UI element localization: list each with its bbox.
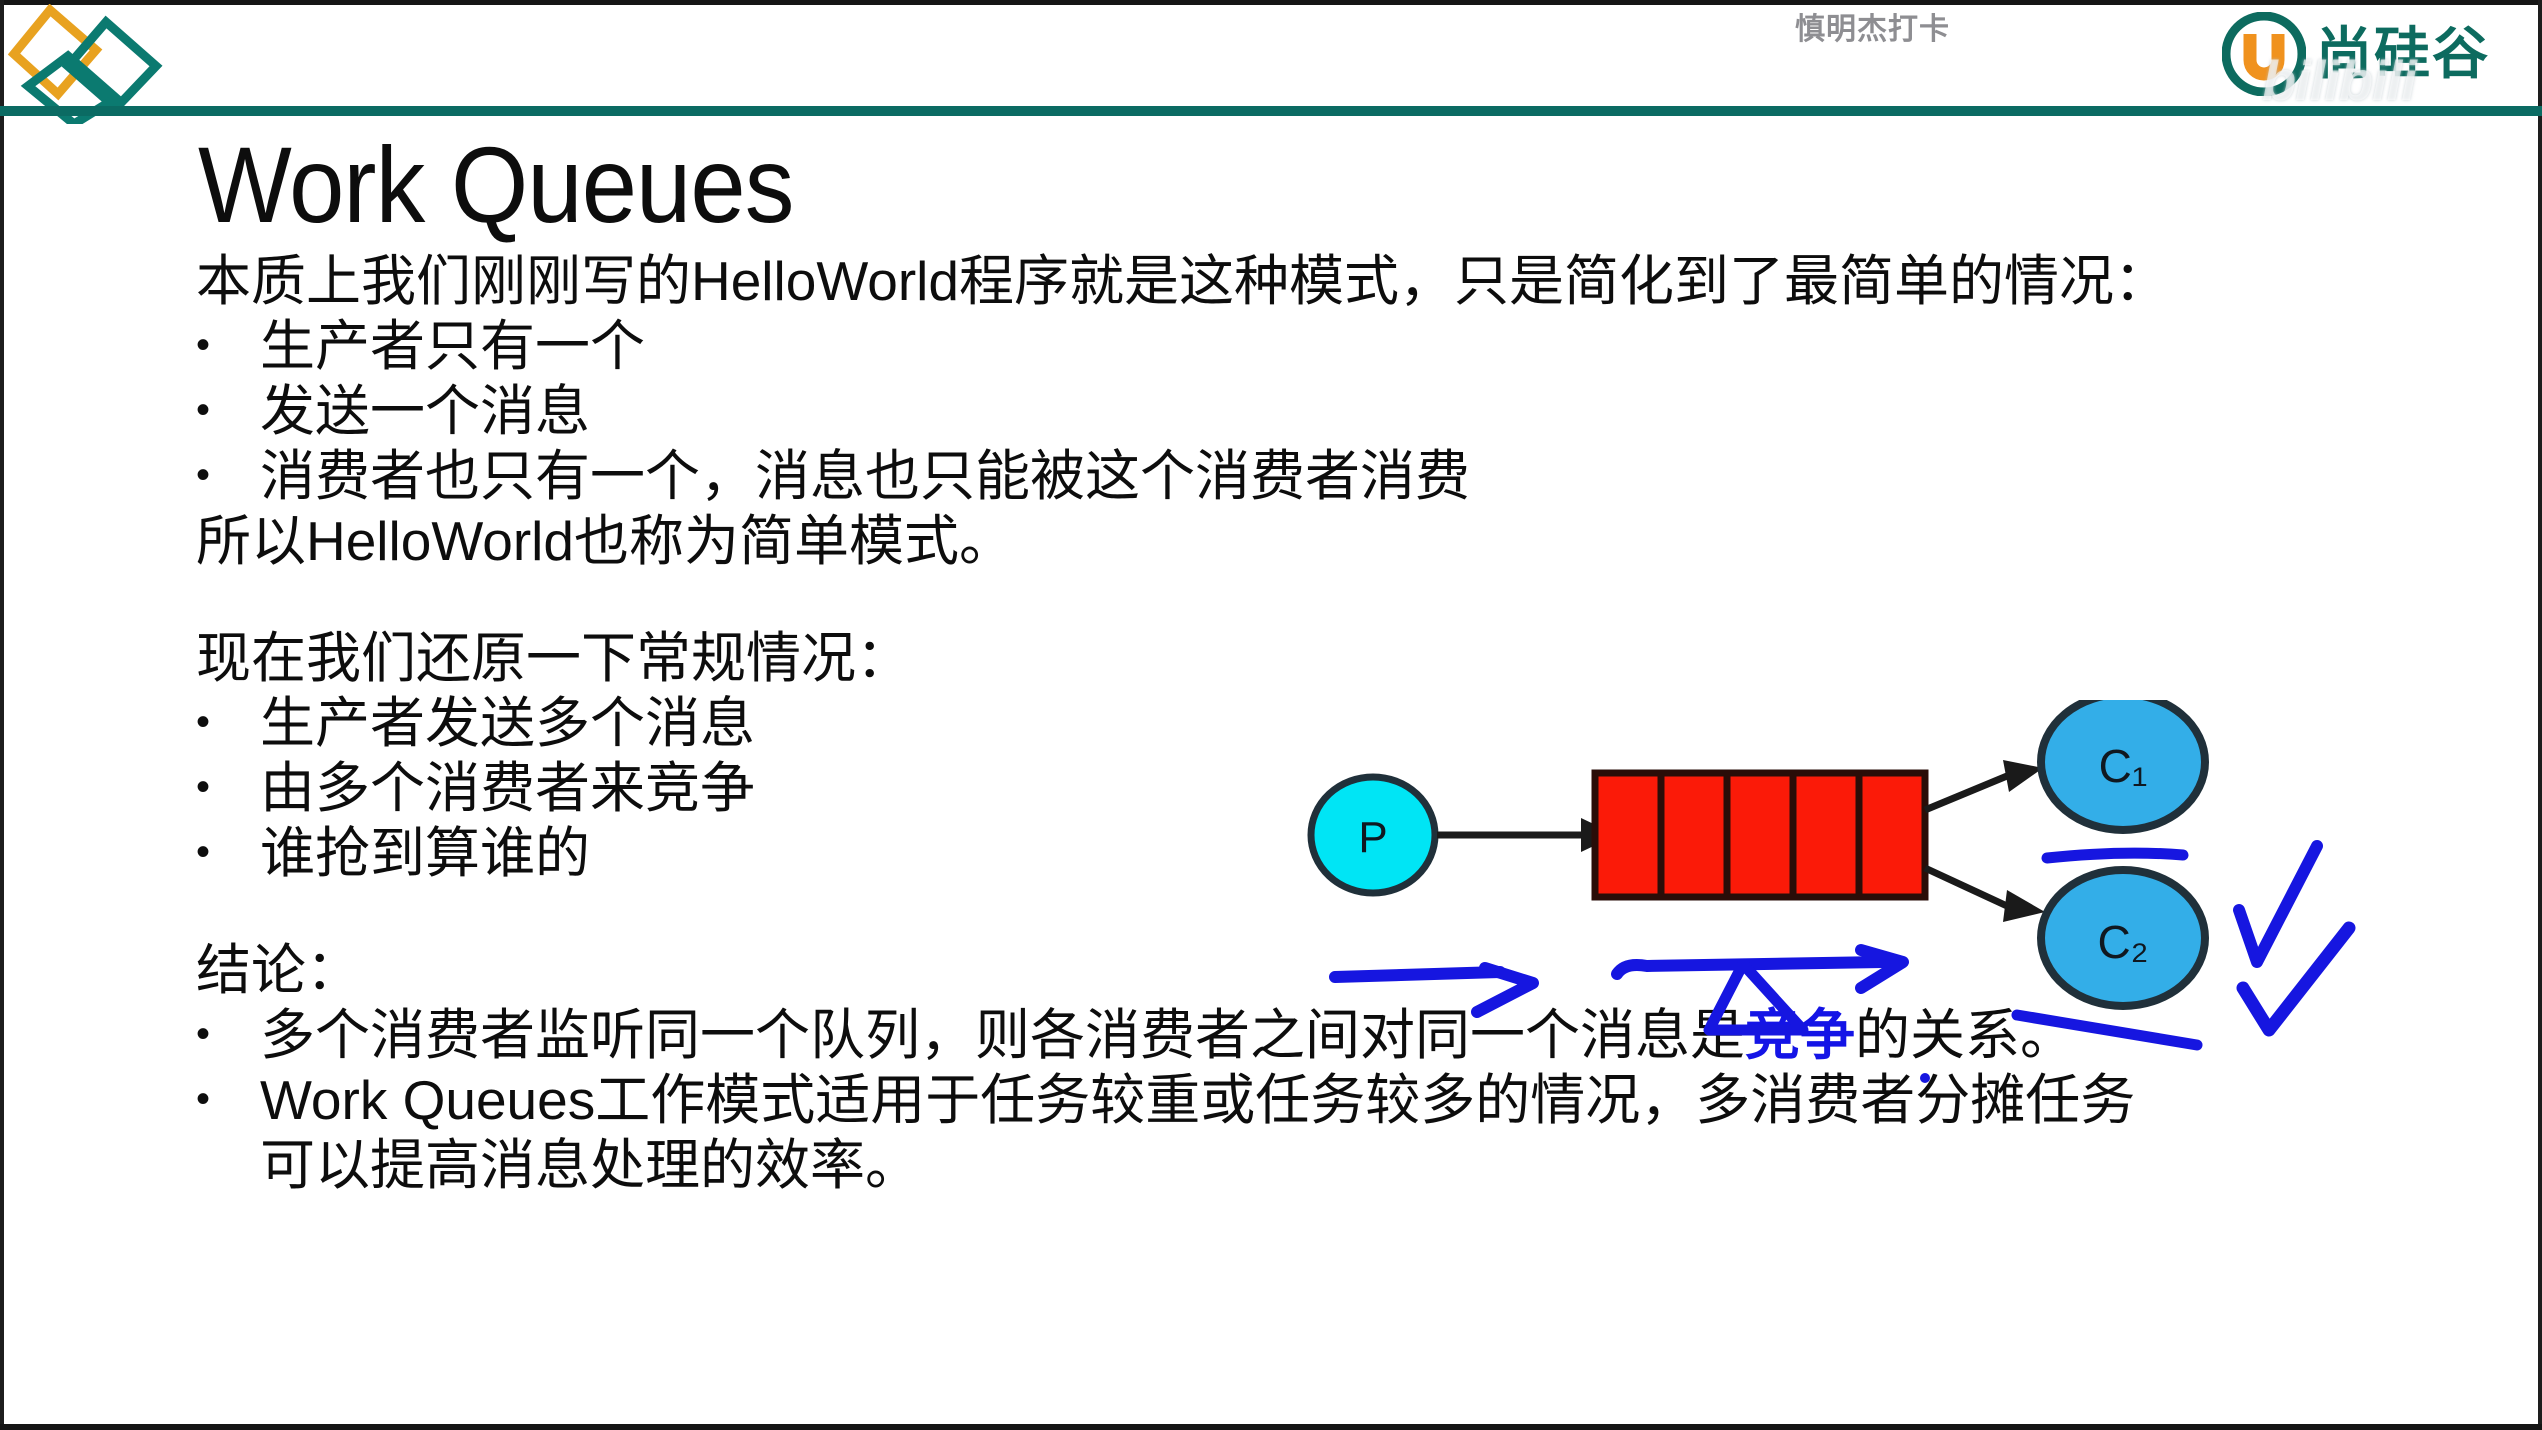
header-divider-rule — [0, 106, 2542, 116]
consumer-2-label: C₂ — [2097, 916, 2148, 968]
slide-header: 慎明杰打卡 尚硅谷 bilibili — [0, 0, 2542, 118]
consumer-1-label: C₁ — [2099, 740, 2148, 792]
underline-stroke-c2 — [2017, 1015, 2197, 1045]
conclusion-bullet-2-line2: 可以提高消息处理的效率。 — [196, 1133, 2526, 1198]
producer-label: P — [1358, 813, 1387, 862]
bullet-glyph: • — [196, 1008, 260, 1063]
consumer-node-2: C₂ — [2041, 870, 2205, 1006]
atguigu-logo: 尚硅谷 — [2222, 6, 2532, 102]
section-spacer — [196, 574, 2526, 626]
balance-scale-icon — [1617, 950, 1903, 1030]
underline-stroke-c1 — [2047, 853, 2183, 858]
check-mark-icon-top — [2239, 846, 2317, 962]
producer-node: P — [1311, 777, 1435, 893]
arrow-queue-to-consumer-2 — [1925, 868, 2045, 922]
video-edge-right — [2538, 0, 2542, 1430]
bullet-glyph: • — [196, 826, 260, 881]
page-title: Work Queues — [198, 128, 2340, 241]
hand-drawn-arrow-icon — [1335, 968, 1533, 1012]
ink-dot — [1920, 1073, 1930, 1083]
intro-closing-line: 所以HelloWorld也称为简单模式。 — [196, 509, 2526, 574]
list-item-label: 发送一个消息 — [260, 384, 2526, 439]
bullet-glyph: • — [196, 696, 260, 751]
normal-case-heading: 现在我们还原一下常规情况： — [196, 626, 2526, 691]
bullet-glyph: • — [196, 761, 260, 816]
video-edge-left — [0, 0, 4, 1430]
arrow-queue-to-consumer-1 — [1925, 760, 2043, 810]
list-item-label: 生产者只有一个 — [260, 319, 2526, 374]
u-logo-icon — [2222, 12, 2306, 96]
list-item-label: 消费者也只有一个，消息也只能被这个消费者消费 — [260, 449, 2526, 504]
video-letterbox-bottom — [0, 1424, 2542, 1430]
bullet-glyph: • — [196, 1073, 260, 1128]
bullet-glyph: • — [196, 319, 260, 374]
message-queue — [1595, 773, 1925, 897]
check-mark-icon-bottom — [2243, 928, 2349, 1030]
slide-canvas: 慎明杰打卡 尚硅谷 bilibili Work Queues 本质上我们刚刚写的… — [0, 0, 2542, 1430]
work-queues-diagram: P — [1295, 700, 2415, 1090]
logo-wordmark: 尚硅谷 — [2316, 26, 2490, 82]
list-item: • 消费者也只有一个，消息也只能被这个消费者消费 — [196, 444, 2526, 509]
user-watermark: 慎明杰打卡 — [1795, 4, 1950, 48]
consumer-node-1: C₁ — [2041, 700, 2205, 830]
bullet-glyph: • — [196, 449, 260, 504]
list-item: • 生产者只有一个 — [196, 314, 2526, 379]
bullet-glyph: • — [196, 384, 260, 439]
list-item: • 发送一个消息 — [196, 379, 2526, 444]
arrow-producer-to-queue — [1437, 818, 1617, 852]
intro-paragraph: 本质上我们刚刚写的HelloWorld程序就是这种模式，只是简化到了最简单的情况… — [196, 249, 2526, 314]
